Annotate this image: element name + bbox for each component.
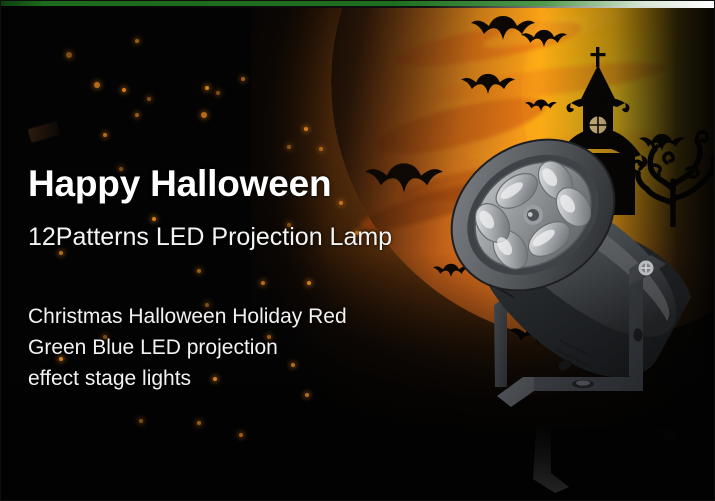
ember-particle <box>135 39 139 43</box>
description-line-3: effect stage lights <box>28 363 347 394</box>
ember-particle <box>135 113 139 117</box>
product-subtitle: 12Patterns LED Projection Lamp <box>28 223 392 252</box>
top-green-rule <box>1 1 715 8</box>
ember-particle <box>147 97 151 101</box>
ember-particle <box>201 112 207 118</box>
ember-particle <box>197 421 201 425</box>
ember-particle <box>287 145 291 149</box>
ember-particle <box>216 91 220 95</box>
ember-particle <box>261 281 265 285</box>
product-description: Christmas Halloween Holiday Red Green Bl… <box>28 301 347 394</box>
page-title: Happy Halloween <box>28 163 331 205</box>
ember-particle <box>122 88 126 92</box>
description-line-2: Green Blue LED projection <box>28 332 347 363</box>
ember-particle <box>152 217 156 221</box>
led-projection-lamp <box>433 119 715 449</box>
ember-particle <box>94 82 100 88</box>
ember-particle <box>197 269 201 273</box>
ember-particle <box>139 419 143 423</box>
ember-particle <box>241 77 245 81</box>
halloween-product-banner: Happy Halloween 12Patterns LED Projectio… <box>0 0 715 501</box>
ember-particle <box>205 86 209 90</box>
ember-particle <box>239 433 243 437</box>
ember-particle <box>319 147 323 151</box>
ember-particle <box>339 201 343 205</box>
description-line-1: Christmas Halloween Holiday Red <box>28 301 347 332</box>
ember-particle <box>66 52 72 58</box>
ember-particle <box>103 133 107 137</box>
ember-particle <box>304 127 308 131</box>
ember-particle <box>307 281 311 285</box>
